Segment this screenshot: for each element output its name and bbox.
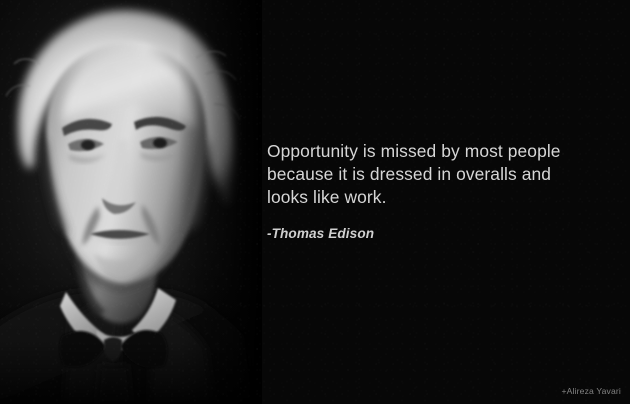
portrait-photo bbox=[0, 0, 262, 404]
quote-block: Opportunity is missed by most people bec… bbox=[267, 140, 577, 241]
quote-line-3: looks like work. bbox=[267, 186, 577, 209]
watermark-credit: +Alireza Yavari bbox=[562, 386, 622, 396]
quote-card: Opportunity is missed by most people bec… bbox=[0, 0, 630, 404]
quote-line-1: Opportunity is missed by most people bbox=[267, 140, 577, 163]
portrait-illustration bbox=[0, 0, 262, 404]
quote-line-2: because it is dressed in overalls and bbox=[267, 163, 577, 186]
quote-attribution: -Thomas Edison bbox=[267, 226, 577, 241]
